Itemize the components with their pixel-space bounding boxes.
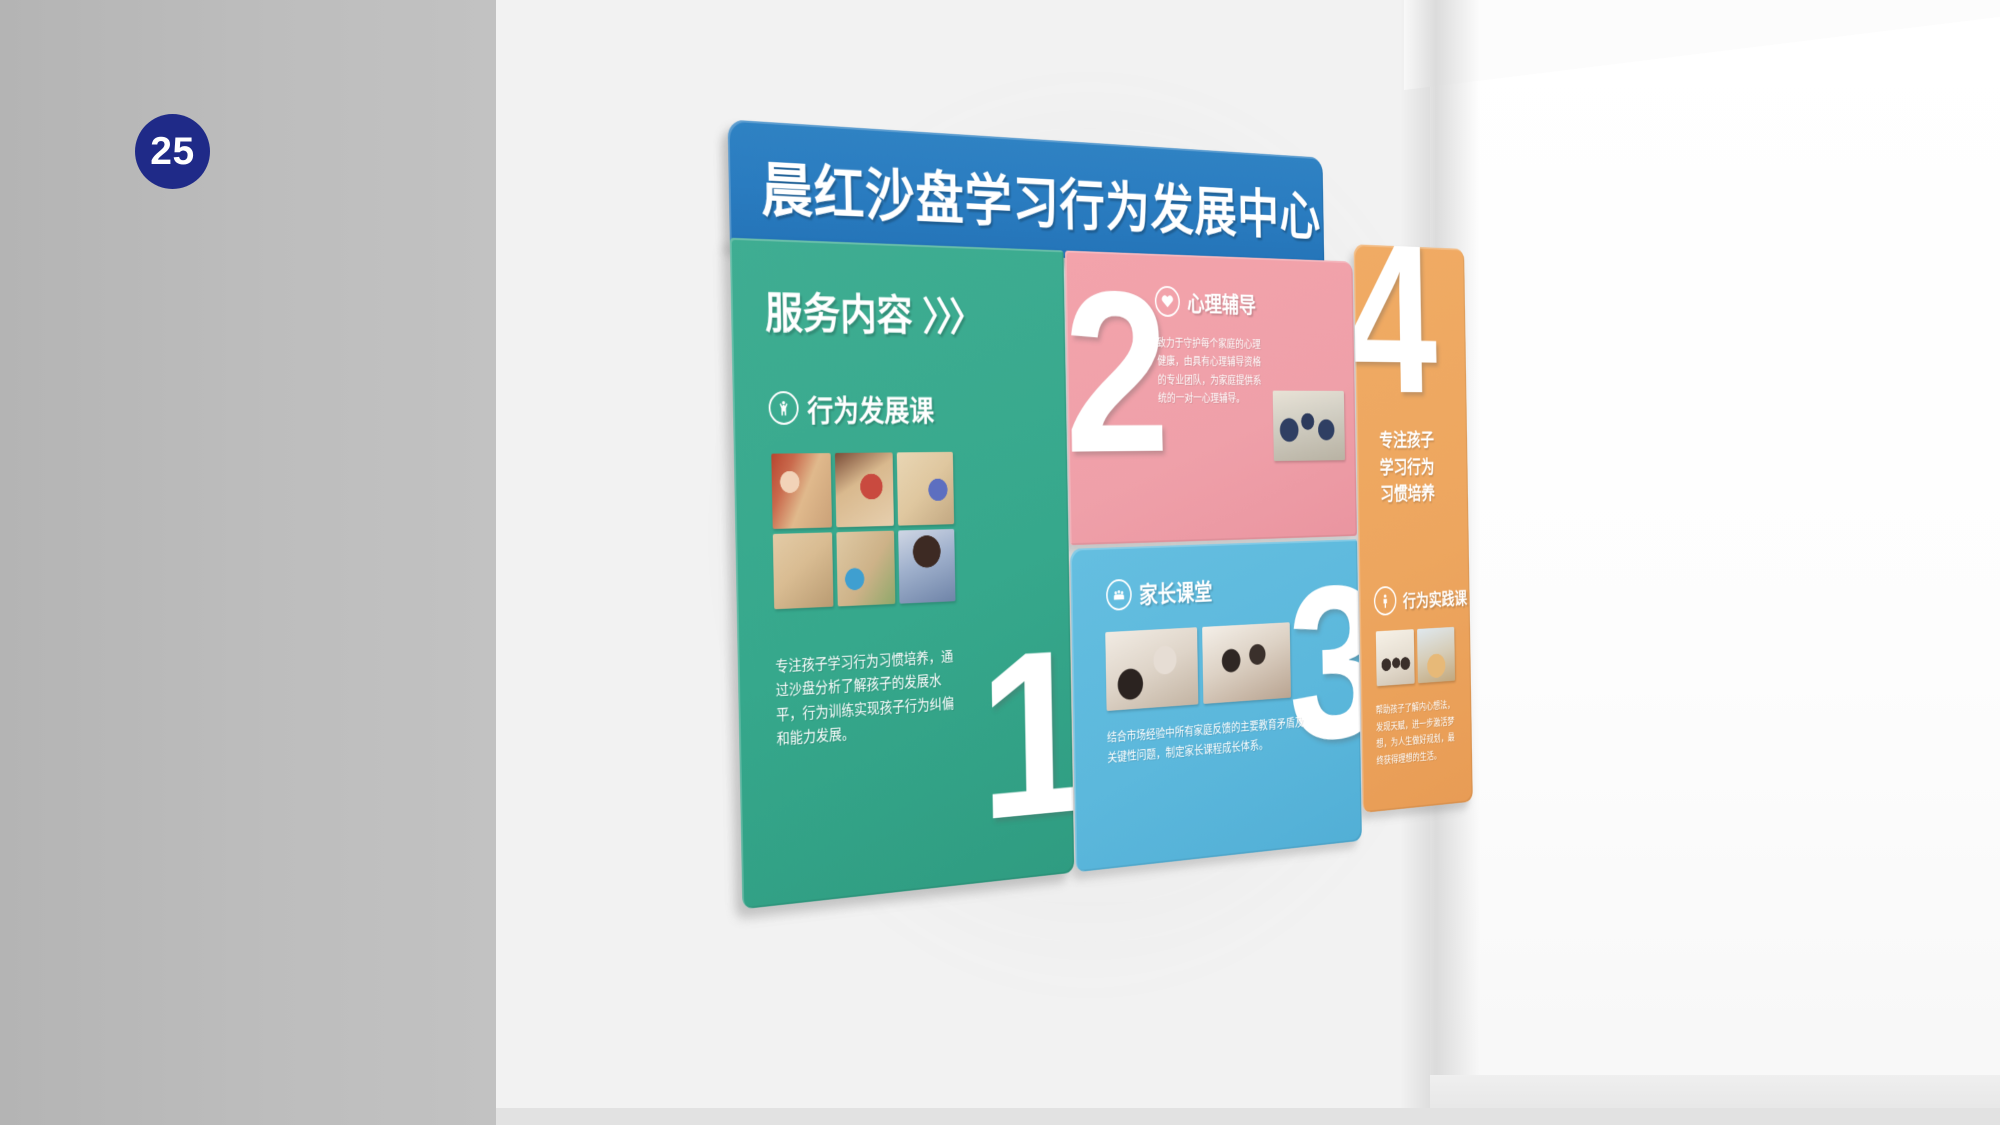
- family-living-room-photo: [1105, 627, 1198, 711]
- sandplay-hands-toys-photo: [897, 452, 954, 526]
- wall-signage: 晨红沙盘学习行为发展中心 CENTER FOR LEARNING AND BEH…: [728, 119, 1427, 909]
- green-body-text: 专注孩子学习行为习惯培养，通过沙盘分析了解孩子的发展水平，行为训练实现孩子行为纠…: [775, 646, 956, 752]
- blue-heading-label: 家长课堂: [1139, 575, 1213, 611]
- hands-blocks-photo: [1417, 627, 1455, 683]
- service-section-title: 服务内容 〉〉〉: [764, 279, 980, 344]
- panel-green: 1 服务内容 〉〉〉 行为发展课: [730, 238, 1074, 910]
- ghost-number-1: 1: [977, 615, 1074, 857]
- blue-photo-row: [1105, 622, 1291, 711]
- sandplay-bucket-photo: [835, 452, 894, 527]
- panel-pink: 2 心理辅导 致力于守护每个家庭的心理健康，由具有心理辅导资格的专业团队，为家庭…: [1065, 251, 1357, 546]
- panel-orange: 4 专注孩子 学习行为 习惯培养 行为实践课 帮助孩子了解内心想法，发现天赋，进…: [1354, 244, 1473, 813]
- family-playing-photo: [1202, 622, 1291, 704]
- ghost-number-4: 4: [1354, 244, 1439, 425]
- page-number-badge: 25: [135, 114, 210, 189]
- orange-slogan: 专注孩子 学习行为 习惯培养: [1379, 427, 1435, 508]
- orange-photo-row: [1376, 627, 1455, 686]
- wall-right-face: [1430, 0, 2000, 1125]
- pink-heading: 心理辅导: [1155, 285, 1256, 319]
- sandplay-child-photo: [771, 453, 832, 529]
- chevron-right-icon: 〉〉〉: [922, 284, 980, 342]
- counseling-classroom-photo: [1273, 391, 1345, 461]
- orange-heading-label: 行为实践课: [1403, 585, 1468, 613]
- floor-strip: [496, 1108, 2000, 1125]
- slide-canvas: 25 晨红沙盘学习行为发展中心 CENTER FOR LEARNING AND …: [0, 0, 2000, 1125]
- header-title-cn: 晨红沙盘学习行为发展中心: [760, 142, 1321, 249]
- sandplay-tools-photo: [836, 531, 895, 607]
- pink-heading-label: 心理辅导: [1187, 286, 1256, 319]
- heart-icon: [1155, 285, 1180, 316]
- family-group-icon: [1106, 579, 1132, 611]
- left-grey-strip: [0, 0, 496, 1125]
- sandplay-hands-photo: [773, 532, 834, 609]
- blue-body-text: 结合市场经验中所有家庭反馈的主要教育矛盾及关键性问题，制定家长课程成长体系。: [1107, 712, 1309, 768]
- person-practice-icon: [1374, 586, 1397, 616]
- signage-panels: 4 专注孩子 学习行为 习惯培养 行为实践课 帮助孩子了解内心想法，发现天赋，进…: [730, 238, 1426, 910]
- orange-body-text: 帮助孩子了解内心想法，发现天赋，进一步激活梦想，为人生做好规划，最终获得理想的生…: [1376, 697, 1457, 770]
- service-section-label: 服务内容: [764, 279, 913, 343]
- orange-heading: 行为实践课: [1374, 583, 1468, 616]
- sandplay-girl-photo: [898, 529, 955, 604]
- green-heading: 行为发展课: [768, 386, 934, 430]
- green-heading-label: 行为发展课: [807, 386, 935, 429]
- pink-body-text: 致力于守护每个家庭的心理健康，由具有心理辅导资格的专业团队，为家庭提供系统的一对…: [1157, 334, 1266, 408]
- person-raised-arms-icon: [768, 391, 799, 425]
- blue-heading: 家长课堂: [1106, 575, 1213, 612]
- sandplay-photo-grid: [771, 452, 955, 609]
- children-group-photo: [1376, 629, 1415, 686]
- panel-blue: 3 家长课堂 结合市场经验中所有家庭反馈的主要教育矛盾及关键性问题，制定家长课程…: [1070, 539, 1362, 872]
